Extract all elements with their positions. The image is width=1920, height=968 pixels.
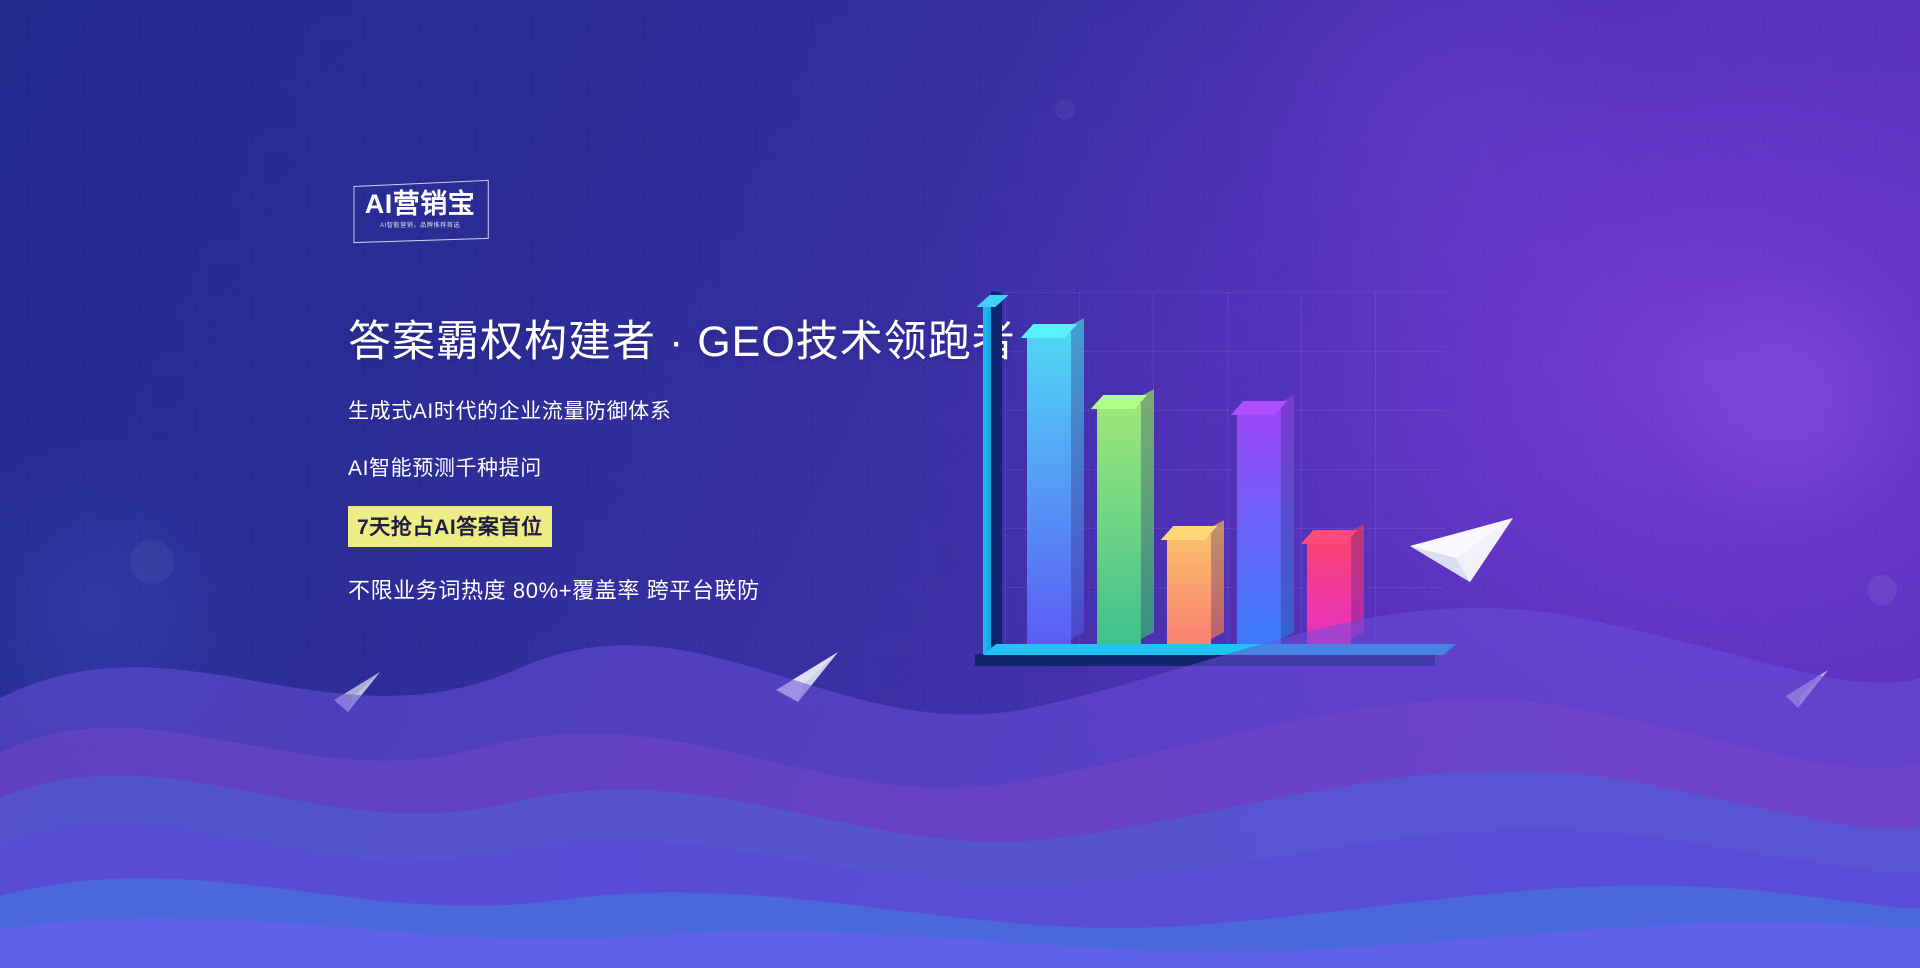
glow-blob-top (1230, 0, 1650, 330)
hero-banner: AI营销宝 AI智能营销，品牌推荐首选 答案霸权构建者 · GEO技术领跑者 生… (0, 0, 1920, 968)
logo-tagline: AI智能营销，品牌推荐首选 (356, 223, 484, 229)
highlight-badge: 7天抢占AI答案首位 (348, 506, 552, 547)
glow-blob-right (1640, 250, 1920, 550)
page-title: 答案霸权构建者 · GEO技术领跑者 (348, 318, 1068, 367)
subtitle-line-1: 生成式AI时代的企业流量防御体系 (348, 395, 1068, 425)
wave-decoration (0, 548, 1920, 968)
decor-circle-top (1055, 100, 1075, 120)
y-axis-cap (976, 295, 1008, 307)
subtitle-line-2: AI智能预测千种提问 (348, 452, 1068, 482)
brand-logo[interactable]: AI营销宝 AI智能营销，品牌推荐首选 (352, 183, 488, 241)
logo-wordmark: AI营销宝 (352, 191, 488, 218)
highlight-wrapper: 7天抢占AI答案首位 (348, 506, 1068, 547)
